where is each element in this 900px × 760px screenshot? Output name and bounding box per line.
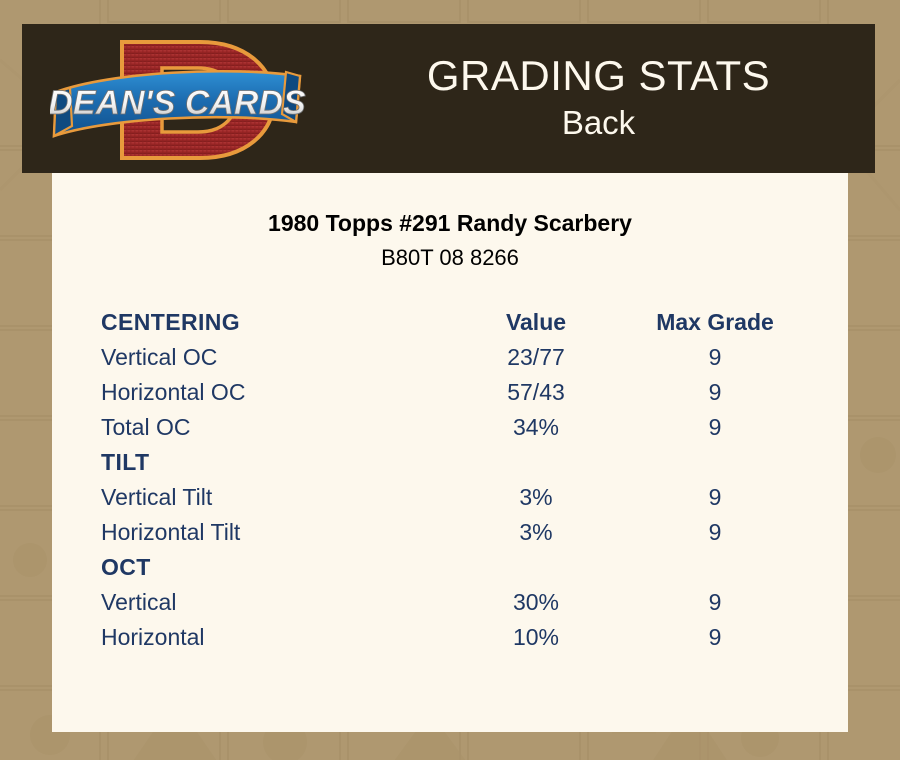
grading-stats-body: CENTERINGValueMax GradeVertical OC23/779… — [101, 305, 799, 655]
table-header-max-grade: Max Grade — [631, 305, 799, 340]
table-row-max-grade: 9 — [631, 340, 799, 375]
table-group-row: TILT — [101, 445, 799, 480]
table-row-max-grade: 9 — [631, 515, 799, 550]
table-row-max-grade: 9 — [631, 585, 799, 620]
table-row-max-grade: 9 — [631, 620, 799, 655]
table-row: Total OC34%9 — [101, 410, 799, 445]
card-serial-number: B80T 08 8266 — [52, 245, 848, 271]
table-row-label: Vertical — [101, 585, 441, 620]
page-subtitle: Back — [562, 102, 635, 143]
table-header-row: CENTERINGValueMax Grade — [101, 305, 799, 340]
page-title: GRADING STATS — [427, 54, 770, 98]
table-row-value: 3% — [441, 515, 631, 550]
table-row: Vertical OC23/779 — [101, 340, 799, 375]
table-group-label: OCT — [101, 550, 441, 585]
header-bar: DEAN'S CARDS GRADING STATS Back — [22, 24, 875, 173]
table-row: Horizontal Tilt3%9 — [101, 515, 799, 550]
table-row-max-grade — [631, 550, 799, 585]
header-text-block: GRADING STATS Back — [322, 24, 875, 173]
table-row: Vertical Tilt3%9 — [101, 480, 799, 515]
table-row-value: 23/77 — [441, 340, 631, 375]
table-row-label: Horizontal — [101, 620, 441, 655]
table-row: Vertical30%9 — [101, 585, 799, 620]
table-row-max-grade: 9 — [631, 480, 799, 515]
table-row-label: Vertical OC — [101, 340, 441, 375]
table-row-value: 10% — [441, 620, 631, 655]
table-row-label: Horizontal OC — [101, 375, 441, 410]
table-row-value: 30% — [441, 585, 631, 620]
table-header-value: Value — [441, 305, 631, 340]
grading-stats-table: CENTERINGValueMax GradeVertical OC23/779… — [101, 305, 799, 655]
table-row-value: 34% — [441, 410, 631, 445]
grading-stats-page: DEAN'S CARDS GRADING STATS Back 1980 Top… — [0, 0, 900, 760]
table-row: Horizontal OC57/439 — [101, 375, 799, 410]
table-row-value: 57/43 — [441, 375, 631, 410]
table-row-label: Horizontal Tilt — [101, 515, 441, 550]
card-title: 1980 Topps #291 Randy Scarbery — [52, 210, 848, 238]
table-row-max-grade: 9 — [631, 375, 799, 410]
table-header-category: CENTERING — [101, 305, 441, 340]
table-row: Horizontal10%9 — [101, 620, 799, 655]
deans-cards-logo[interactable]: DEAN'S CARDS — [50, 26, 320, 171]
table-row-value: 3% — [441, 480, 631, 515]
table-row-max-grade — [631, 445, 799, 480]
table-row-max-grade: 9 — [631, 410, 799, 445]
table-row-value — [441, 550, 631, 585]
table-group-label: TILT — [101, 445, 441, 480]
content-panel: 1980 Topps #291 Randy Scarbery B80T 08 8… — [52, 173, 848, 732]
table-row-label: Total OC — [101, 410, 441, 445]
logo-banner-text: DEAN'S CARDS — [50, 84, 306, 122]
table-row-label: Vertical Tilt — [101, 480, 441, 515]
table-group-row: OCT — [101, 550, 799, 585]
table-row-value — [441, 445, 631, 480]
